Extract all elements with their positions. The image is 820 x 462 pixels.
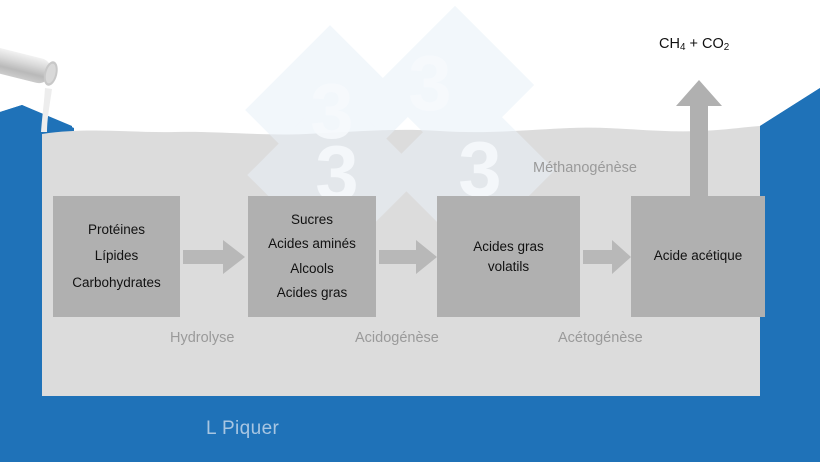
box-line: volatils (488, 257, 529, 277)
gas-output-label: CH4 + CO2 (659, 36, 729, 53)
box-line: Protéines (88, 217, 145, 243)
stage-label-acetogenesis: Acétogénèse (558, 330, 643, 346)
photo-credit: L Piquer (206, 418, 279, 440)
box-line: Acides gras (277, 281, 348, 305)
stage-box-monomers[interactable]: Sucres Acides aminés Alcools Acides gras (248, 196, 376, 317)
flow-arrow-hydrolysis (183, 240, 245, 274)
process-flow-diagram: Protéines Lípides Carbohydrates Sucres A… (0, 0, 820, 462)
stage-label-methanogenesis: Méthanogénèse (533, 160, 637, 176)
box-line: Acides aminés (268, 232, 356, 256)
figure-canvas: 3 3 3 3 Protéines (0, 0, 820, 462)
box-line: Lípides (95, 243, 139, 269)
stage-box-volatile-fatty-acids[interactable]: Acides gras volatils (437, 196, 580, 317)
flow-arrow-acetogenesis (583, 240, 631, 274)
stage-box-substrates[interactable]: Protéines Lípides Carbohydrates (53, 196, 180, 317)
box-line: Acides gras (473, 237, 544, 257)
stage-box-acetic-acid[interactable]: Acide acétique (631, 196, 765, 317)
box-line: Acide acétique (654, 243, 743, 269)
gas-plus: + (685, 36, 702, 52)
stage-label-hydrolysis: Hydrolyse (170, 330, 234, 346)
gas-co: CO (702, 36, 724, 52)
gas-co-sub: 2 (724, 42, 729, 53)
gas-ch: CH (659, 36, 680, 52)
box-line: Carbohydrates (72, 270, 161, 296)
box-line: Sucres (291, 208, 333, 232)
flow-arrow-acidogenesis (379, 240, 437, 274)
box-line: Alcools (290, 257, 334, 281)
stage-label-acidogenesis: Acidogénèse (355, 330, 439, 346)
methane-output-arrow (676, 80, 722, 202)
